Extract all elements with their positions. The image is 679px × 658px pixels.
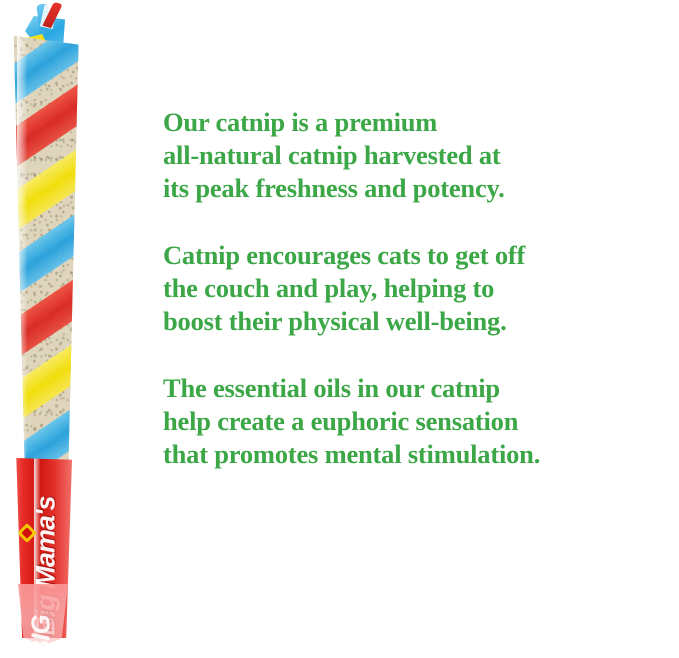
copy-paragraph-1: Our catnip is a premium all-natural catn… bbox=[163, 106, 663, 205]
copy-paragraph-3: The essential oils in our catnip help cr… bbox=[163, 372, 663, 471]
product-feature-image: Big Mama's CATNIP BIG Our catnip is a pr… bbox=[0, 0, 679, 658]
copy-paragraph-2: Catnip encourages cats to get off the co… bbox=[163, 239, 663, 338]
marketing-copy: Our catnip is a premium all-natural catn… bbox=[163, 106, 663, 471]
cap-brand-fragment: BIG bbox=[26, 585, 57, 658]
tube-bottom-cap: BIG bbox=[16, 584, 68, 646]
tube-left-highlight bbox=[6, 36, 11, 466]
tube-right-highlight bbox=[78, 36, 84, 466]
tube-body bbox=[6, 36, 84, 466]
product-image: Big Mama's CATNIP BIG bbox=[0, 0, 92, 658]
